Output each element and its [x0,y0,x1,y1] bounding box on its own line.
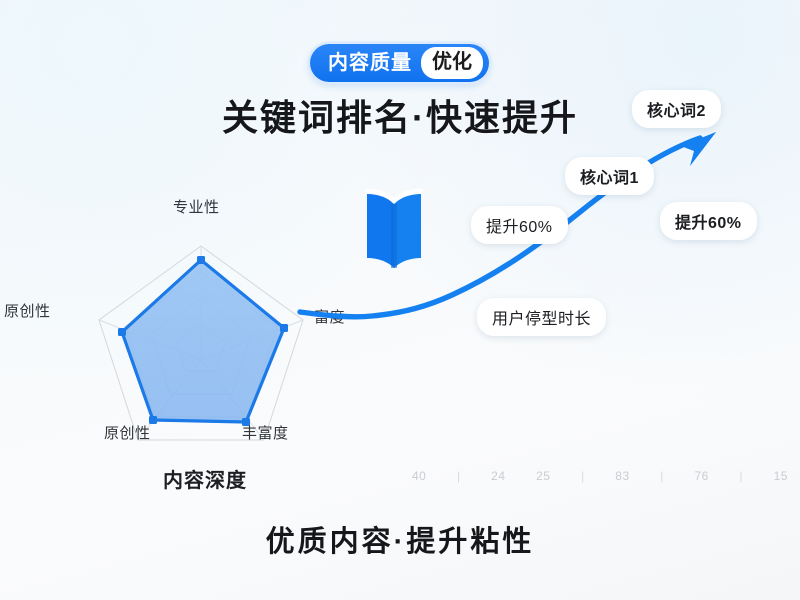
axis-tick-label-9: 15 [774,469,788,483]
radar-axis-label-1: 富度 [314,306,345,327]
poster-canvas: 内容质量 优化 关键词排名·快速提升 [0,0,800,600]
axis-tick-mark: | [660,469,664,483]
radar-axis-label-4: 原创性 [4,300,51,321]
callout-dwell-time[interactable]: 用户停型时长 [477,298,606,336]
open-book-icon [361,186,427,272]
radar-axis-label-3: 原创性 [104,422,151,443]
status-badge: 内容质量 优化 [310,44,489,82]
radar-chart: 专业性 富度 丰富度 原创性 原创性 [46,206,356,456]
axis-tick-label-7: 76 [694,469,708,483]
axis-tick-row: 40|2425|83|76|15 [412,466,788,486]
axis-tick-label-0: 40 [412,469,426,483]
radar-series-area [122,260,284,422]
content-depth-label: 内容深度 [163,464,247,493]
axis-tick-label-3: 25 [536,469,550,483]
callout-uplift-left[interactable]: 提升60% [471,206,568,244]
page-subtitle: 优质内容·提升粘性 [0,518,800,560]
badge-main-label: 内容质量 [328,53,412,73]
axis-tick-label-5: 83 [615,469,629,483]
radar-chart-svg [46,206,356,456]
axis-tick-mark: | [457,469,461,483]
callout-keyword2[interactable]: 核心词2 [632,90,721,128]
callout-keyword1[interactable]: 核心词1 [565,157,654,195]
radar-axis-label-0: 专业性 [173,196,220,217]
axis-tick-mark: | [581,469,585,483]
callout-uplift-right[interactable]: 提升60% [660,202,757,240]
axis-tick-label-2: 24 [491,469,505,483]
axis-tick-mark: | [739,469,743,483]
radar-axis-label-2: 丰富度 [242,422,289,443]
badge-sub-label: 优化 [421,47,483,79]
